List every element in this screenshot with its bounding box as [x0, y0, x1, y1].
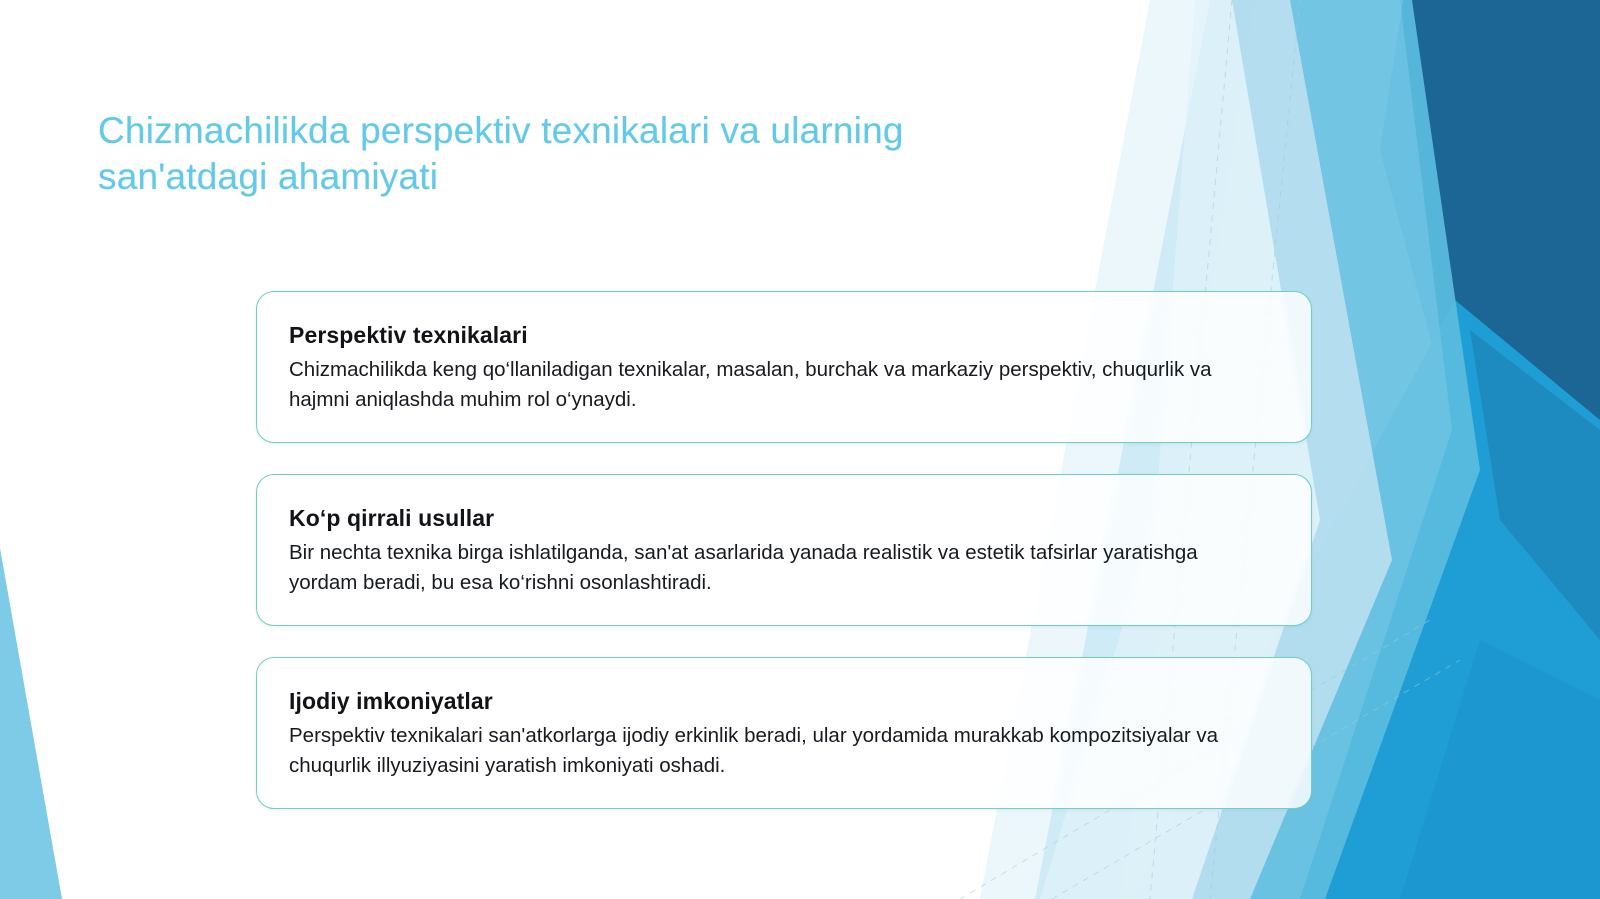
lower-dark-triangle [1400, 640, 1600, 899]
card-body: Bir nechta texnika birga ishlatilganda, … [289, 538, 1259, 598]
card-item[interactable]: Ko‘p qirrali usullar Bir nechta texnika … [256, 474, 1312, 626]
card-item[interactable]: Ijodiy imkoniyatlar Perspektiv texnikala… [256, 657, 1312, 809]
deep-blue-shape [1380, 0, 1600, 560]
card-title: Ko‘p qirrali usullar [289, 503, 1279, 533]
dark-accent-shape [1470, 330, 1600, 640]
card-title: Ijodiy imkoniyatlar [289, 686, 1279, 716]
slide-canvas: Chizmachilikda perspektiv texnikalari va… [0, 0, 1600, 899]
card-item[interactable]: Perspektiv texnikalari Chizmachilikda ke… [256, 291, 1312, 443]
card-body: Chizmachilikda keng qo‘llaniladigan texn… [289, 355, 1259, 415]
slide-title: Chizmachilikda perspektiv texnikalari va… [98, 108, 1058, 200]
card-title: Perspektiv texnikalari [289, 320, 1279, 350]
card-body: Perspektiv texnikalari san'atkorlarga ij… [289, 721, 1259, 781]
left-bottom-wedge [0, 548, 62, 899]
card-list: Perspektiv texnikalari Chizmachilikda ke… [256, 291, 1312, 809]
